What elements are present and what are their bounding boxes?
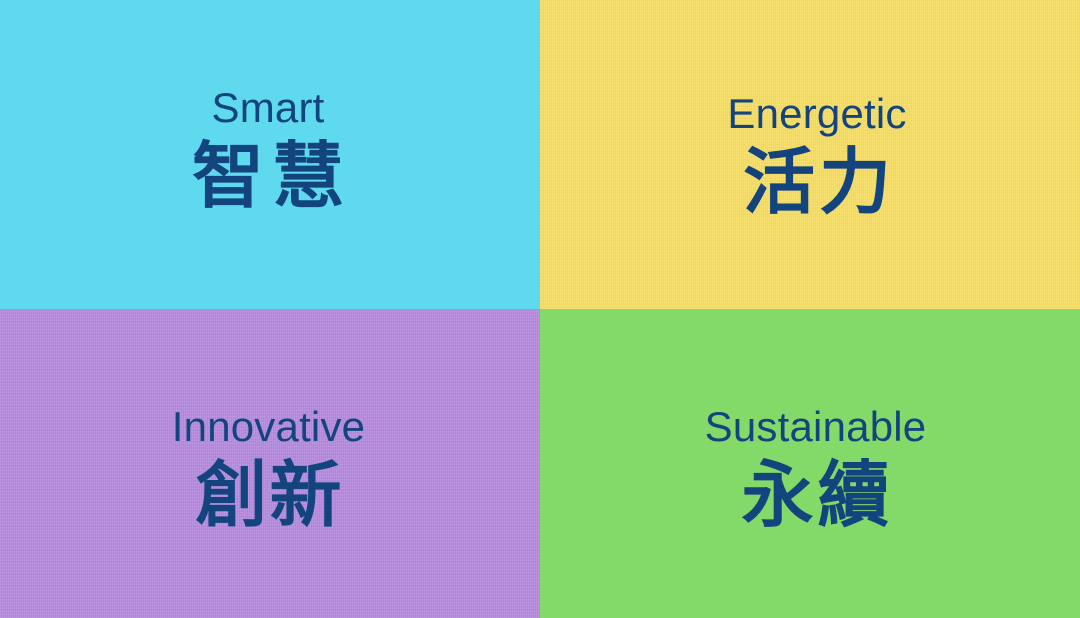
quadrant-smart-label-en: Smart (211, 86, 324, 130)
quadrant-smart-label-zh: 智慧 (192, 136, 352, 217)
quadrant-innovative-label-zh: 創新 (195, 455, 343, 536)
quadrant-energetic[interactable]: Energetic 活力 (540, 0, 1080, 309)
quadrant-smart-text: Smart 智慧 (184, 86, 352, 217)
quadrant-grid: Smart 智慧 Energetic 活力 Innovative 創新 Sust… (0, 0, 1080, 618)
quadrant-energetic-label-zh: 活力 (743, 142, 895, 223)
quadrant-smart[interactable]: Smart 智慧 (0, 0, 540, 309)
brand-values-board: Smart 智慧 Energetic 活力 Innovative 創新 Sust… (0, 0, 1080, 618)
quadrant-energetic-text: Energetic 活力 (727, 92, 906, 223)
quadrant-sustainable[interactable]: Sustainable 永續 (540, 309, 1080, 618)
quadrant-sustainable-label-en: Sustainable (705, 405, 927, 449)
quadrant-innovative-text: Innovative 創新 (172, 405, 365, 536)
quadrant-innovative[interactable]: Innovative 創新 (0, 309, 540, 618)
quadrant-innovative-label-en: Innovative (172, 405, 365, 449)
quadrant-sustainable-label-zh: 永續 (741, 455, 893, 536)
quadrant-sustainable-text: Sustainable 永續 (705, 405, 927, 536)
quadrant-energetic-label-en: Energetic (727, 92, 906, 136)
